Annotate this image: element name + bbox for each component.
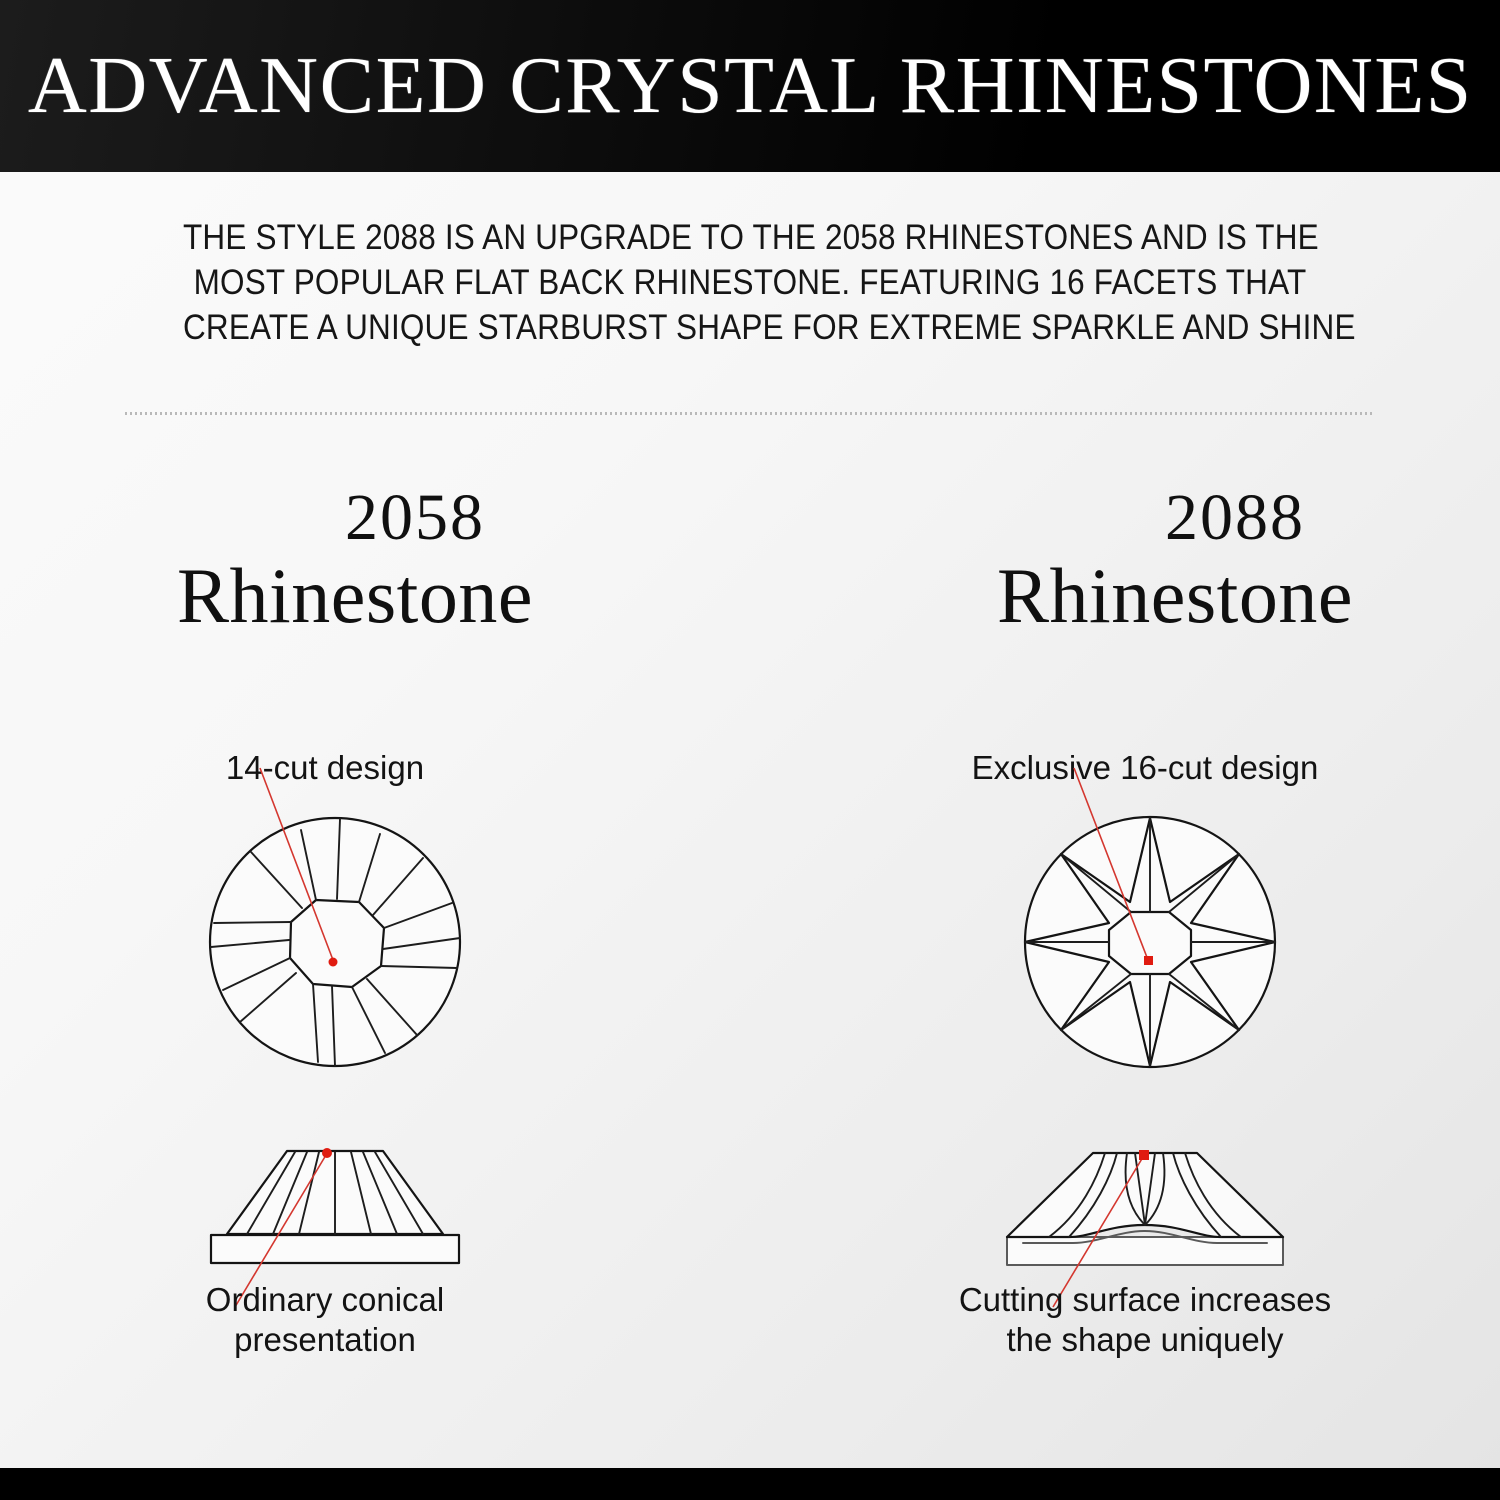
- intro-line-3: CREATE A UNIQUE STARBURST SHAPE FOR EXTR…: [183, 305, 1317, 350]
- heading-2088-number: 2088: [855, 485, 1495, 551]
- caption-ordinary-conical: Ordinary conical presentation: [0, 1280, 675, 1360]
- leader-dot-2088-top: [1144, 956, 1153, 965]
- heading-2058: 2058 Rhinestone: [35, 485, 675, 635]
- base-slab-2088: [1007, 1237, 1283, 1265]
- heading-2058-number: 2058: [35, 485, 675, 551]
- base-slab-2058: [211, 1235, 459, 1263]
- intro-line-1: THE STYLE 2088 IS AN UPGRADE TO THE 2058…: [183, 215, 1317, 260]
- heading-2058-word: Rhinestone: [35, 557, 675, 635]
- heading-2088: 2088 Rhinestone: [855, 485, 1495, 635]
- label-16-cut-design: Exclusive 16-cut design: [795, 748, 1495, 788]
- leader-dot-2088-side: [1139, 1150, 1149, 1160]
- caption-right-line-1: Cutting surface increases: [795, 1280, 1495, 1320]
- leader-dot-2058-top: [329, 958, 338, 967]
- diagram-2088-top-view: [1000, 790, 1300, 1090]
- page-title: ADVANCED CRYSTAL RHINESTONES: [28, 46, 1473, 126]
- intro-paragraph: THE STYLE 2088 IS AN UPGRADE TO THE 2058…: [183, 215, 1317, 350]
- caption-cutting-surface: Cutting surface increases the shape uniq…: [795, 1280, 1495, 1360]
- heading-2088-word: Rhinestone: [855, 557, 1495, 635]
- inner-octagon-2058: [290, 900, 384, 987]
- diagram-2058-side-profile: [185, 1125, 485, 1305]
- caption-left-line-2: presentation: [0, 1320, 675, 1360]
- infographic-page: ADVANCED CRYSTAL RHINESTONES THE STYLE 2…: [0, 0, 1500, 1500]
- dotted-divider: [125, 412, 1375, 415]
- diagram-2058-top-view: [185, 790, 485, 1090]
- caption-right-line-2: the shape uniquely: [795, 1320, 1495, 1360]
- intro-line-2: MOST POPULAR FLAT BACK RHINESTONE. FEATU…: [183, 260, 1317, 305]
- label-14-cut-design: 14-cut design: [0, 748, 675, 788]
- header-banner: ADVANCED CRYSTAL RHINESTONES: [0, 0, 1500, 172]
- caption-left-line-1: Ordinary conical: [0, 1280, 675, 1320]
- bottom-black-bar: [0, 1468, 1500, 1500]
- diagram-2088-side-profile: [985, 1125, 1305, 1305]
- leader-dot-2058-side: [322, 1148, 332, 1158]
